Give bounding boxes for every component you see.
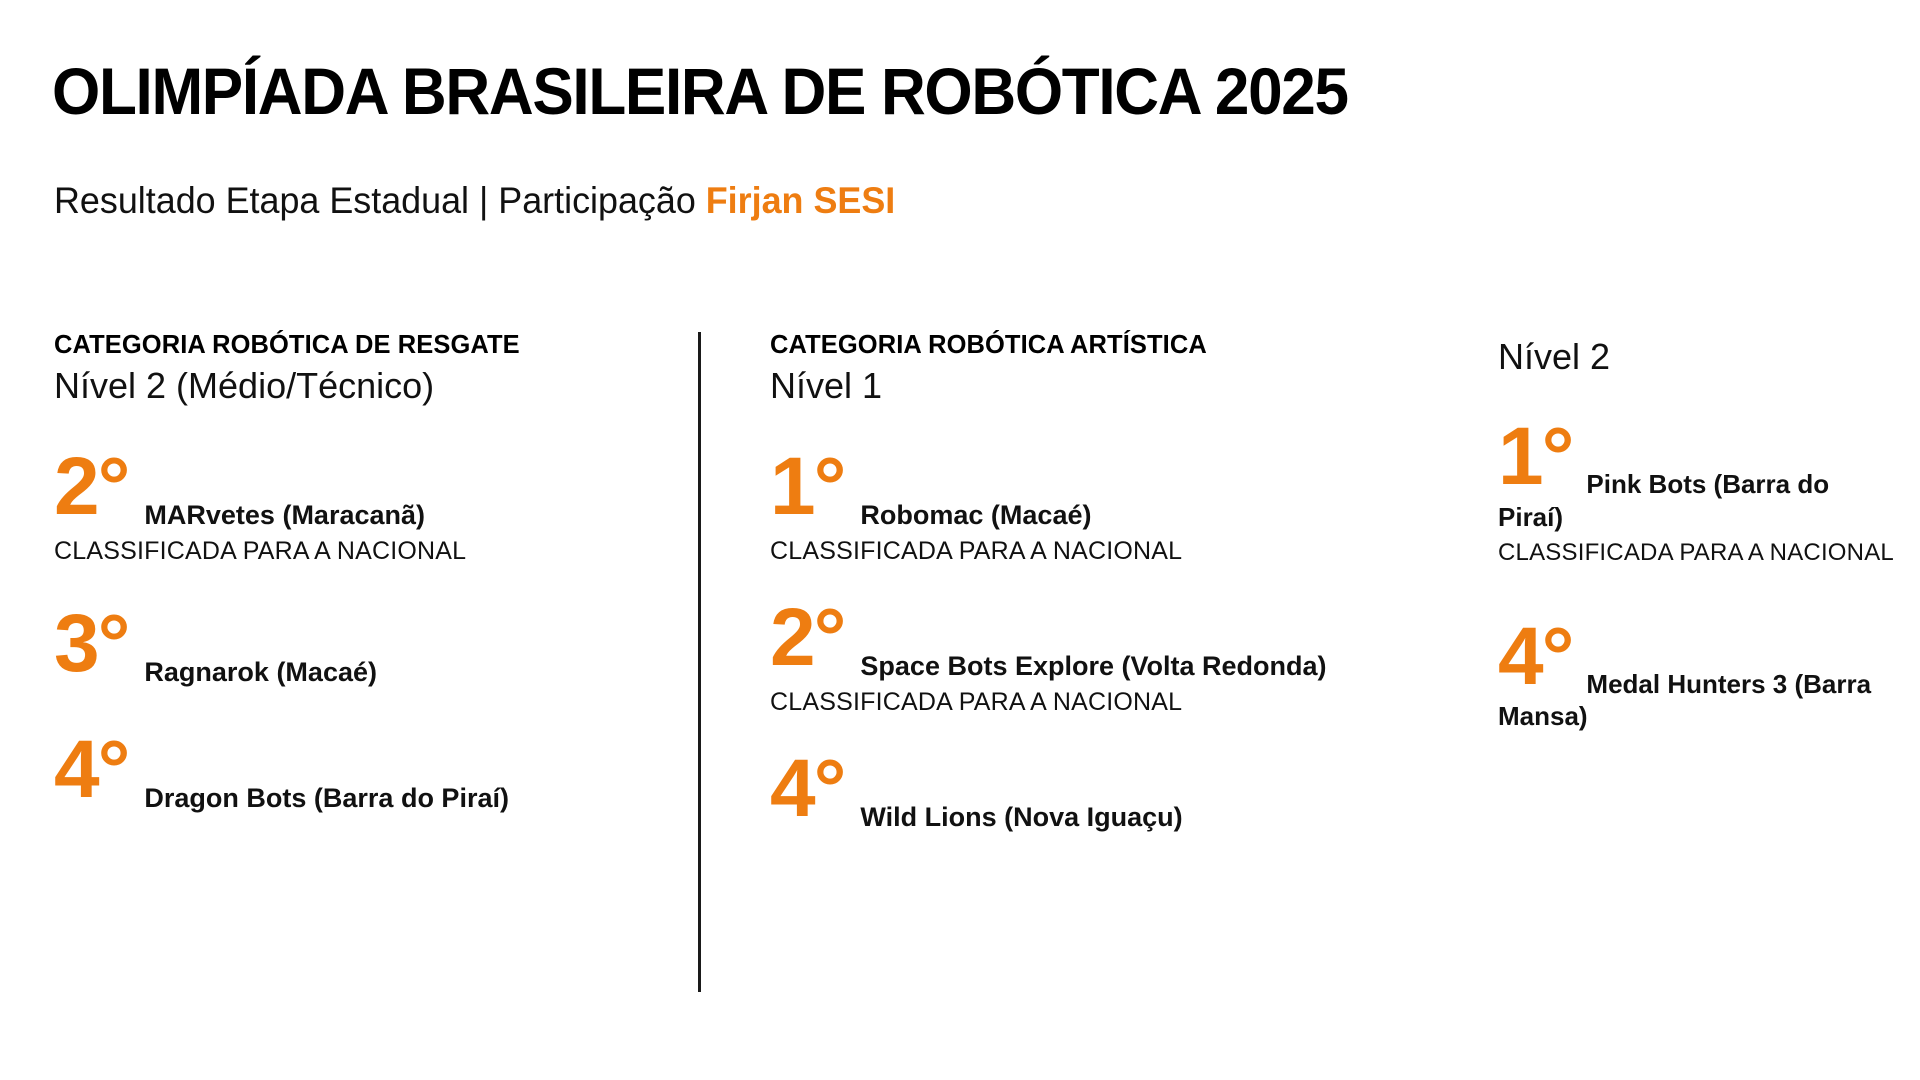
- team-name: Ragnarok (Macaé): [144, 657, 377, 687]
- rank-number: 1°: [1498, 422, 1572, 493]
- classification-label: CLASSIFICADA PARA A NACIONAL: [770, 536, 1460, 567]
- rank-number: 4°: [770, 754, 844, 825]
- rank-number: 4°: [54, 735, 128, 806]
- category-heading: CATEGORIA ROBÓTICA DE RESGATE: [54, 330, 662, 359]
- result-list: 1° Robomac (Macaé) CLASSIFICADA PARA A N…: [770, 452, 1460, 838]
- entry-body: Ragnarok (Macaé): [54, 609, 674, 689]
- result-entry: 2° Space Bots Explore (Volta Redonda) CL…: [770, 603, 1460, 718]
- result-entry: 4° Dragon Bots (Barra do Piraí): [54, 735, 674, 819]
- team-name: Robomac (Macaé): [860, 500, 1091, 530]
- entry-body: Robomac (Macaé) CLASSIFICADA PARA A NACI…: [770, 452, 1460, 567]
- entry-body: Space Bots Explore (Volta Redonda) CLASS…: [770, 603, 1460, 718]
- result-entry: 4° Medal Hunters 3 (Barra Mansa): [1498, 622, 1898, 738]
- result-entry: 1° Pink Bots (Barra do Piraí) CLASSIFICA…: [1498, 422, 1898, 567]
- result-entry: 3° Ragnarok (Macaé): [54, 609, 674, 693]
- team-name: Wild Lions (Nova Iguaçu): [860, 802, 1182, 832]
- result-entry: 4° Wild Lions (Nova Iguaçu): [770, 754, 1460, 838]
- level-heading: Nível 2: [1498, 336, 1898, 378]
- category-heading: CATEGORIA ROBÓTICA ARTÍSTICA: [770, 330, 1446, 359]
- page-subtitle: Resultado Etapa Estadual | Participação …: [54, 182, 895, 219]
- team-name: Space Bots Explore (Volta Redonda): [860, 651, 1326, 681]
- rank-number: 4°: [1498, 622, 1572, 693]
- rank-number: 2°: [54, 452, 128, 523]
- rank-number: 3°: [54, 609, 128, 680]
- result-list: 1° Pink Bots (Barra do Piraí) CLASSIFICA…: [1498, 422, 1898, 737]
- result-entry: 2° MARvetes (Maracanã) CLASSIFICADA PARA…: [54, 452, 674, 567]
- category-column-rescue: CATEGORIA ROBÓTICA DE RESGATE Nível 2 (M…: [54, 330, 674, 819]
- category-column-artistic-level1: CATEGORIA ROBÓTICA ARTÍSTICA Nível 1 1° …: [770, 330, 1460, 838]
- category-column-artistic-level2: Nível 2 1° Pink Bots (Barra do Piraí) CL…: [1498, 330, 1898, 737]
- column-divider: [698, 332, 701, 992]
- team-name: Dragon Bots (Barra do Piraí): [144, 783, 509, 813]
- classification-label: CLASSIFICADA PARA A NACIONAL: [54, 536, 674, 567]
- subtitle-text: Resultado Etapa Estadual | Participação: [54, 180, 706, 221]
- rank-number: 2°: [770, 603, 844, 674]
- brand-name: Firjan SESI: [706, 180, 895, 221]
- classification-label: CLASSIFICADA PARA A NACIONAL: [770, 687, 1460, 718]
- poster-root: OLIMPÍADA BRASILEIRA DE ROBÓTICA 2025 Re…: [0, 0, 1920, 1080]
- rank-number: 1°: [770, 452, 844, 523]
- level-heading: Nível 1: [770, 365, 1460, 407]
- team-name: MARvetes (Maracanã): [144, 500, 425, 530]
- level-heading: Nível 2 (Médio/Técnico): [54, 365, 674, 407]
- entry-body: MARvetes (Maracanã) CLASSIFICADA PARA A …: [54, 452, 674, 567]
- entry-body: Dragon Bots (Barra do Piraí): [54, 735, 674, 815]
- result-entry: 1° Robomac (Macaé) CLASSIFICADA PARA A N…: [770, 452, 1460, 567]
- page-title: OLIMPÍADA BRASILEIRA DE ROBÓTICA 2025: [52, 58, 1348, 124]
- result-list: 2° MARvetes (Maracanã) CLASSIFICADA PARA…: [54, 452, 674, 819]
- classification-label: CLASSIFICADA PARA A NACIONAL: [1498, 538, 1898, 568]
- entry-body: Wild Lions (Nova Iguaçu): [770, 754, 1460, 834]
